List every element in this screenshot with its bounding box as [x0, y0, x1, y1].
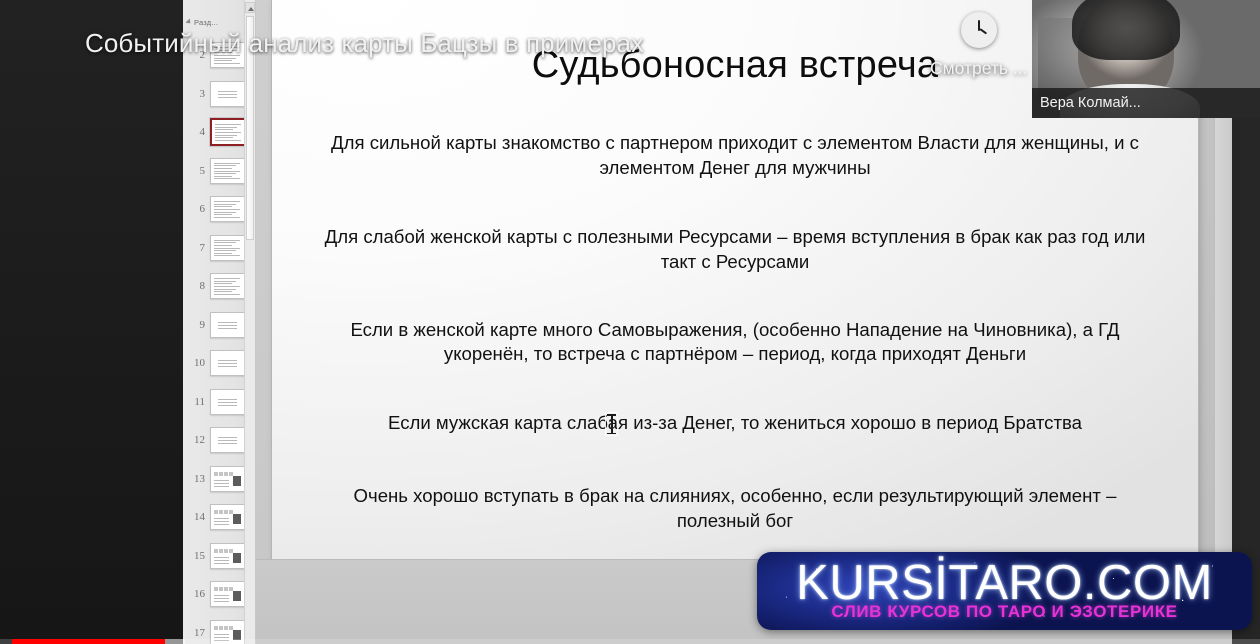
slide-thumbnail-preview[interactable] — [210, 235, 245, 261]
slide-thumbnail-preview[interactable] — [210, 81, 245, 107]
watch-later-button[interactable]: Смотреть ... — [930, 12, 1028, 79]
slide-thumbnail-preview[interactable] — [210, 312, 245, 338]
webcam-pip[interactable]: Вера Колмай... — [1032, 0, 1260, 118]
slide-thumbnail-item[interactable]: 3 — [183, 75, 249, 114]
slide-thumbnail-item[interactable]: 9 — [183, 306, 249, 345]
watch-later-label: Смотреть ... — [930, 58, 1028, 79]
watermark-sub-text: СЛИВ КУРСОВ ПО ТАРО И ЭЗОТЕРИКЕ — [757, 602, 1252, 622]
slide-number-label: 5 — [183, 165, 210, 177]
clock-icon — [961, 12, 997, 48]
scroll-up-arrow-icon[interactable] — [245, 2, 255, 13]
slide-thumbnail-pane[interactable]: Разд... 234567891011121314151617181920 — [183, 0, 256, 644]
slide-thumbnail-preview[interactable] — [210, 158, 245, 184]
slide-number-label: 3 — [183, 88, 210, 100]
slide-thumbnail-item[interactable]: 4 — [183, 113, 249, 152]
thumbnail-pane-scrollbar[interactable] — [244, 0, 255, 644]
section-collapse-triangle-icon[interactable] — [185, 18, 192, 25]
slide-number-label: 16 — [183, 588, 210, 600]
slide-number-label: 17 — [183, 627, 210, 639]
slide-number-label: 12 — [183, 434, 210, 446]
slide-thumbnail-preview[interactable] — [210, 581, 245, 607]
slide-thumbnail-item[interactable]: 7 — [183, 229, 249, 268]
slide-thumbnail-item[interactable]: 10 — [183, 344, 249, 383]
slide-number-label: 7 — [183, 242, 210, 254]
slide-thumbnail-preview[interactable] — [210, 118, 247, 146]
pip-name-bar: Вера Колмай... — [1032, 88, 1260, 118]
slide-thumbnail-preview[interactable] — [210, 504, 245, 530]
slide-thumbnail-item[interactable]: 11 — [183, 383, 249, 422]
slide-number-label: 6 — [183, 203, 210, 215]
slide-paragraph-5: Очень хорошо вступать в брак на слияниях… — [310, 484, 1160, 533]
slide-number-label: 9 — [183, 319, 210, 331]
slide-number-label: 15 — [183, 550, 210, 562]
slide-thumbnail-preview[interactable] — [210, 543, 245, 569]
slide-paragraph-3: Если в женской карте много Самовыражения… — [310, 318, 1160, 367]
slide-thumbnail-preview[interactable] — [210, 427, 245, 453]
letterbox-left — [0, 0, 183, 644]
slide-thumbnail-preview[interactable] — [210, 466, 245, 492]
slide-thumbnail-item[interactable]: 6 — [183, 190, 249, 229]
slide-thumbnail-preview[interactable] — [210, 196, 245, 222]
slide-number-label: 10 — [183, 357, 210, 369]
video-title: Событийный анализ карты Бацзы в примерах — [85, 28, 644, 59]
section-label: Разд... — [194, 18, 218, 27]
kursitaro-watermark: KURSİTARO.COM СЛИВ КУРСОВ ПО ТАРО И ЭЗОТ… — [757, 552, 1252, 630]
slide-thumbnail-preview[interactable] — [210, 273, 245, 299]
slide-thumbnail-list[interactable]: 234567891011121314151617181920 — [183, 36, 249, 644]
slide-number-label: 8 — [183, 280, 210, 292]
slide-paragraph-4: Если мужская карта слабая из-за Денег, т… — [310, 411, 1160, 436]
slide-thumbnail-preview[interactable] — [210, 350, 245, 376]
slide-number-label: 14 — [183, 511, 210, 523]
video-player-stage: Разд... 234567891011121314151617181920 С… — [0, 0, 1260, 644]
slide-thumbnail-item[interactable]: 16 — [183, 575, 249, 614]
slide-number-label: 4 — [183, 126, 210, 138]
text-ibeam-cursor — [607, 414, 616, 434]
slide-number-label: 11 — [183, 396, 210, 408]
slide-paragraph-1: Для сильной карты знакомство с партнером… — [310, 131, 1160, 180]
progress-played — [12, 639, 165, 644]
slide-thumbnail-preview[interactable] — [210, 389, 245, 415]
slide-thumbnail-item[interactable]: 8 — [183, 267, 249, 306]
video-progress-bar[interactable] — [0, 639, 1260, 644]
slide-thumbnail-item[interactable]: 14 — [183, 498, 249, 537]
slide-paragraph-2: Для слабой женской карты с полезными Рес… — [310, 225, 1160, 274]
slide-thumbnail-item[interactable]: 13 — [183, 460, 249, 499]
slide-thumbnail-item[interactable]: 15 — [183, 537, 249, 576]
slide-thumbnail-item[interactable]: 5 — [183, 152, 249, 191]
slide-thumbnail-item[interactable]: 12 — [183, 421, 249, 460]
pip-name-label: Вера Колмай... — [1032, 95, 1141, 111]
pip-person-hair — [1072, 0, 1180, 60]
slide-number-label: 13 — [183, 473, 210, 485]
